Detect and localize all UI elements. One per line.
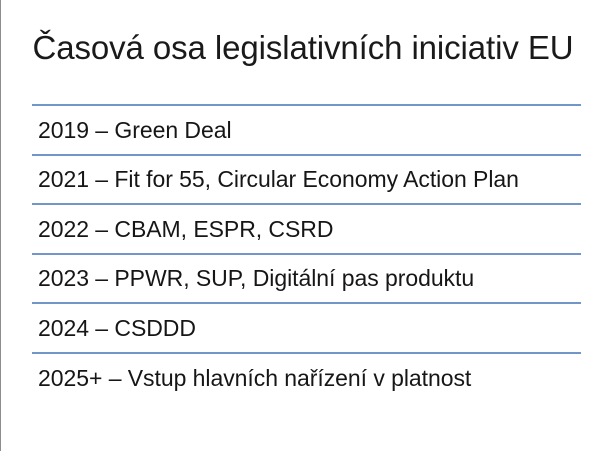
list-item-label: 2024 – CSDDD <box>32 315 196 341</box>
list-item-label: 2021 – Fit for 55, Circular Economy Acti… <box>32 166 519 192</box>
list-item: 2019 – Green Deal <box>32 104 581 154</box>
list-item-label: 2025+ – Vstup hlavních nařízení v platno… <box>32 365 471 391</box>
list-item-label: 2023 – PPWR, SUP, Digitální pas produktu <box>32 265 474 291</box>
list-item: 2023 – PPWR, SUP, Digitální pas produktu <box>32 253 581 303</box>
presentation-slide: Časová osa legislativních iniciativ EU 2… <box>0 0 605 451</box>
list-item: 2021 – Fit for 55, Circular Economy Acti… <box>32 154 581 204</box>
list-item: 2025+ – Vstup hlavních nařízení v platno… <box>32 352 581 402</box>
list-item-label: 2022 – CBAM, ESPR, CSRD <box>32 216 333 242</box>
page-title: Časová osa legislativních iniciativ EU <box>1 22 605 74</box>
timeline-list: 2019 – Green Deal 2021 – Fit for 55, Cir… <box>32 104 581 402</box>
list-item: 2024 – CSDDD <box>32 302 581 352</box>
list-item: 2022 – CBAM, ESPR, CSRD <box>32 203 581 253</box>
list-item-label: 2019 – Green Deal <box>32 117 232 143</box>
